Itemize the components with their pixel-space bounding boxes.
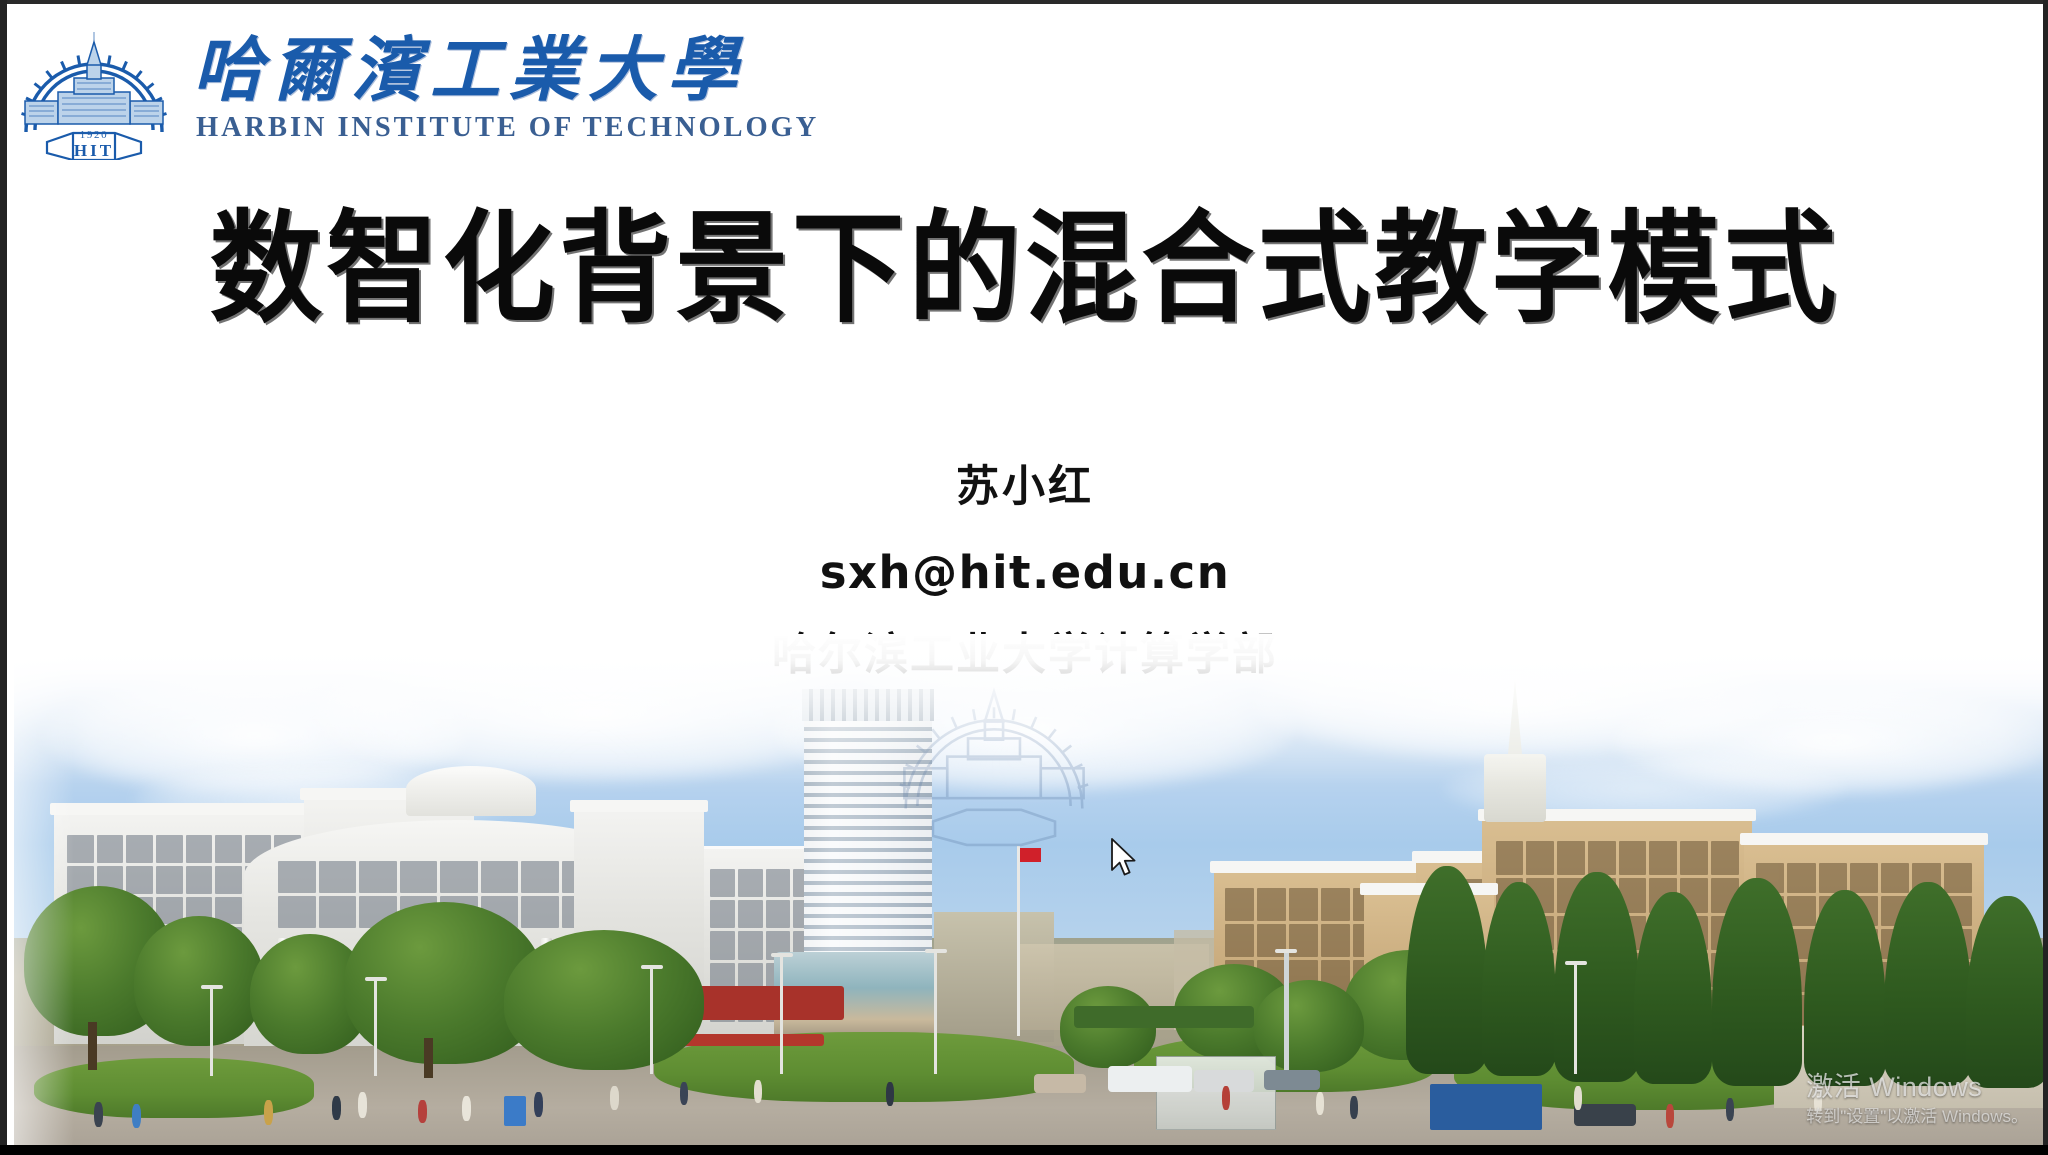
pedestrian — [1350, 1096, 1358, 1119]
campus-photo: 激活 Windows 转到"设置"以激活 Windows。 — [14, 634, 2048, 1149]
tower-spire-base — [1484, 754, 1546, 822]
vehicle — [1574, 1104, 1636, 1126]
pedestrian — [1814, 1090, 1822, 1113]
tree — [134, 916, 264, 1046]
directional-sign — [1430, 1084, 1542, 1130]
pedestrian — [1222, 1086, 1230, 1110]
tower-spire — [1508, 680, 1522, 754]
pedestrian — [132, 1104, 141, 1128]
street-lamp — [650, 968, 653, 1074]
university-name-cn: 哈爾濱工業大學 — [193, 36, 819, 109]
university-logo: 1920 HIT 哈爾濱工業大學 HARBIN INSTITUTE OF TEC… — [17, 20, 819, 160]
street-lamp — [780, 956, 783, 1074]
pedestrian — [534, 1092, 543, 1117]
pedestrian — [610, 1086, 619, 1110]
tree — [504, 930, 704, 1070]
pedestrian — [264, 1100, 273, 1125]
vehicle — [1264, 1070, 1320, 1090]
svg-text:HIT: HIT — [74, 141, 114, 160]
pedestrian — [754, 1080, 762, 1103]
hedge — [1074, 1006, 1254, 1028]
national-flag — [1020, 848, 1041, 862]
pedestrian — [886, 1082, 894, 1106]
author-affiliation: 哈尔滨工业大学计算学部 — [7, 633, 2043, 677]
flagpole — [1017, 846, 1020, 1036]
tower-crown — [802, 689, 934, 721]
pedestrian — [1666, 1104, 1674, 1128]
pedestrian — [1316, 1092, 1324, 1115]
tower-facade-bands — [804, 716, 932, 978]
tree-trunk — [424, 1038, 433, 1078]
author-email: sxh@hit.edu.cn — [7, 550, 2043, 595]
pedestrian — [462, 1096, 471, 1121]
pedestrian — [358, 1092, 367, 1118]
pedestrian — [1574, 1086, 1582, 1110]
tree-trunk — [88, 1022, 97, 1070]
hit-university-emblem-icon: 1920 HIT — [17, 20, 171, 160]
logo-text-block: 哈爾濱工業大學 HARBIN INSTITUTE OF TECHNOLOGY — [193, 36, 819, 145]
pedestrian — [418, 1100, 427, 1123]
vehicle — [1108, 1066, 1192, 1092]
author-name: 苏小红 — [7, 466, 2043, 509]
pedestrian — [680, 1082, 688, 1105]
street-lamp — [374, 980, 377, 1076]
highrise-tower — [804, 716, 932, 978]
pedestrian — [94, 1102, 103, 1127]
street-lamp — [1574, 964, 1577, 1074]
street-lamp — [1284, 952, 1289, 1080]
pedestrian — [332, 1096, 341, 1120]
campus-photo-content — [14, 634, 2048, 1149]
street-lamp — [934, 952, 937, 1074]
capture-border-left — [0, 0, 7, 1155]
slide-canvas: 1920 HIT 哈爾濱工業大學 HARBIN INSTITUTE OF TEC… — [7, 4, 2043, 1145]
university-name-en: HARBIN INSTITUTE OF TECHNOLOGY — [196, 112, 819, 144]
byline-block: 苏小红 sxh@hit.edu.cn 哈尔滨工业大学计算学部 — [7, 466, 2043, 677]
street-lamp — [210, 988, 213, 1076]
presentation-slide: 1920 HIT 哈爾濱工業大學 HARBIN INSTITUTE OF TEC… — [0, 0, 2048, 1155]
slide-title: 数智化背景下的混合式教学模式 — [0, 205, 2048, 336]
vehicle — [1034, 1074, 1086, 1093]
svg-text:1920: 1920 — [80, 129, 108, 141]
trash-bin — [504, 1096, 526, 1126]
pedestrian — [1726, 1098, 1734, 1121]
building-cupola — [406, 766, 536, 816]
